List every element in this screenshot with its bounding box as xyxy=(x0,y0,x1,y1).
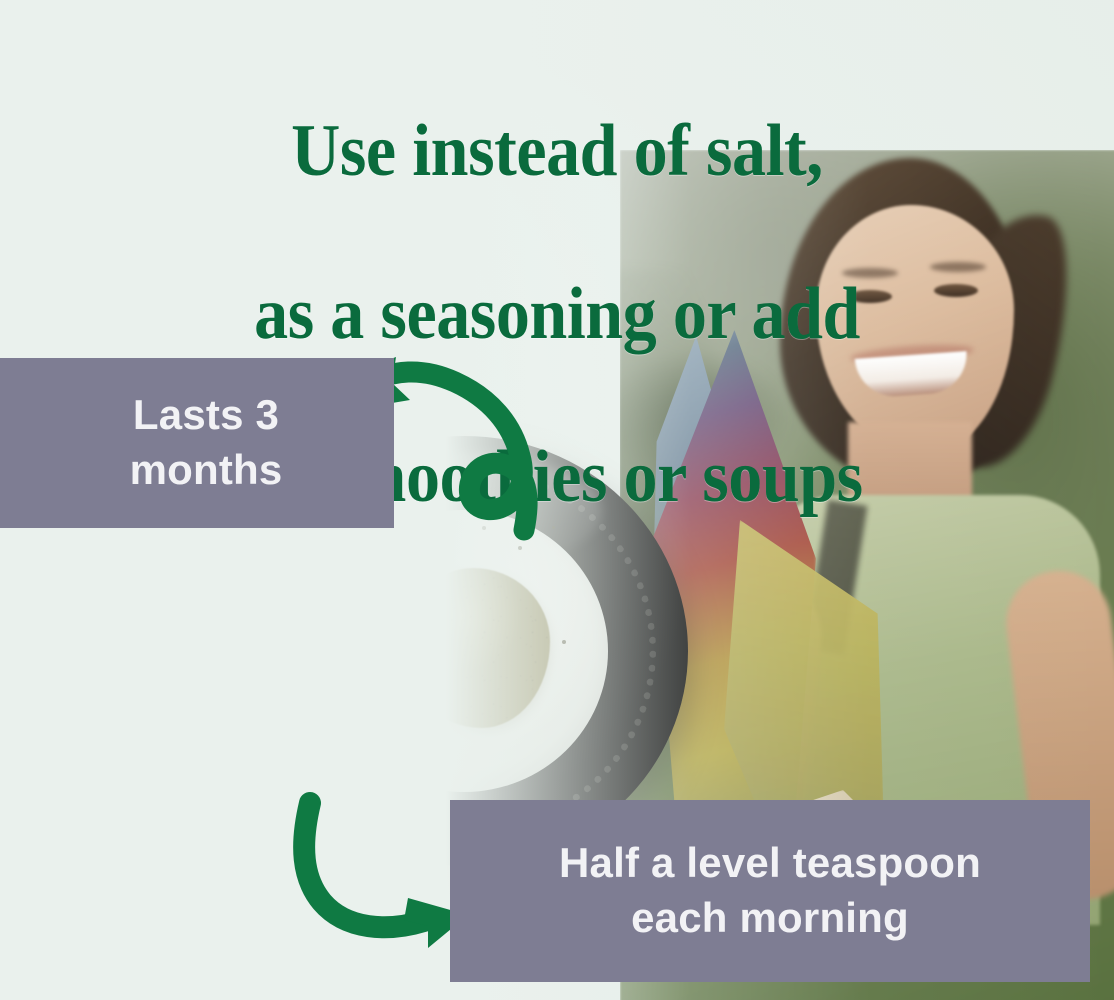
callout-teaspoon-line-1: Half a level teaspoon xyxy=(559,839,981,886)
callout-lasts-three-months: Lasts 3 months xyxy=(0,358,394,528)
callout-teaspoon-line-2: each morning xyxy=(631,894,909,941)
infographic-poster: Use instead of salt, as a seasoning or a… xyxy=(0,0,1114,1000)
callout-lasts-line-2: months xyxy=(130,446,283,493)
callout-half-teaspoon: Half a level teaspoon each morning xyxy=(450,800,1090,982)
callout-lasts-line-1: Lasts 3 xyxy=(133,391,279,438)
